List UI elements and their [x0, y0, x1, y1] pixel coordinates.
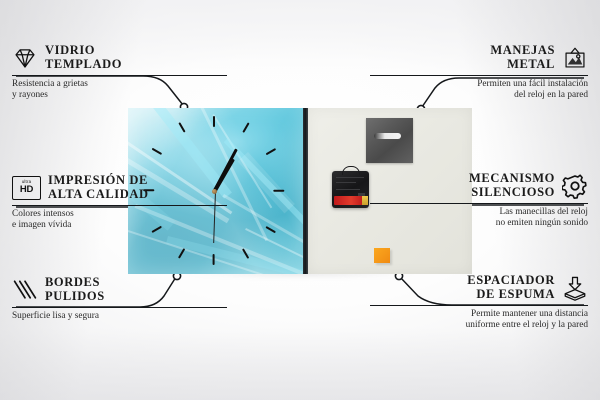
- feature-desc-line2: y rayones: [12, 90, 227, 101]
- feature-impresion-alta-calidad: ultra HD IMPRESIÓN DE ALTA CALIDAD Color…: [12, 174, 227, 231]
- infographic-canvas: VIDRIO TEMPLADO Resistencia a grietas y …: [0, 0, 600, 400]
- feature-desc-line2: no emiten ningún sonido: [370, 218, 588, 229]
- metal-hanger-plate: [366, 118, 413, 163]
- ultra-hd-badge-icon: ultra HD: [12, 176, 41, 200]
- feature-desc-line2: uniforme entre el reloj y la pared: [370, 320, 588, 331]
- clock-tick: [178, 248, 185, 258]
- feature-title-line1: IMPRESIÓN DE: [48, 174, 149, 188]
- feature-desc-line1: Permiten una fácil instalación: [370, 79, 588, 90]
- hanging-picture-frame-icon: [562, 45, 588, 71]
- feature-rule: [370, 75, 588, 76]
- orange-foam-spacer: [374, 248, 390, 263]
- clock-tick: [152, 148, 162, 155]
- feature-title-line1: VIDRIO: [45, 44, 122, 58]
- feature-desc-line1: Permite mantener una distancia: [370, 309, 588, 320]
- feature-title-line1: MANEJAS: [490, 44, 555, 58]
- movement-hook: [342, 166, 360, 175]
- feature-title-line1: BORDES: [45, 276, 105, 290]
- feature-desc-line1: Las manecillas del reloj: [370, 207, 588, 218]
- down-arrow-onto-pad-icon: [562, 275, 588, 301]
- feature-rule: [12, 75, 227, 76]
- clock-tick: [273, 190, 284, 192]
- feature-rule: [370, 305, 588, 306]
- clock-tick: [213, 254, 215, 265]
- feature-espaciador-espuma: ESPACIADOR DE ESPUMA Permite mantener un…: [370, 274, 588, 331]
- feature-desc-line2: e imagen vívida: [12, 220, 227, 231]
- feature-rule: [12, 205, 227, 206]
- feature-desc-line2: del reloj en la pared: [370, 90, 588, 101]
- diamond-icon: [12, 45, 38, 71]
- quartz-movement-box: [332, 171, 369, 208]
- feature-bordes-pulidos: BORDES PULIDOS Superficie lisa y segura: [12, 276, 227, 322]
- feature-title-line1: MECANISMO: [469, 172, 555, 186]
- clock-tick: [242, 122, 249, 132]
- gear-icon: [562, 173, 588, 199]
- aa-battery: [334, 196, 365, 205]
- feature-title-line2: DE ESPUMA: [467, 288, 555, 302]
- feature-desc-line1: Colores intensos: [12, 209, 227, 220]
- feature-title-line2: ALTA CALIDAD: [48, 188, 149, 202]
- feature-desc-line1: Superficie lisa y segura: [12, 311, 227, 322]
- feature-rule: [370, 203, 588, 204]
- feature-title-line2: SILENCIOSO: [469, 186, 555, 200]
- feature-title-line2: METAL: [490, 58, 555, 72]
- feature-mecanismo-silencioso: MECANISMO SILENCIOSO Las manecillas del …: [370, 172, 588, 229]
- battery-terminal: [362, 196, 368, 205]
- feature-desc-line1: Resistencia a grietas: [12, 79, 227, 90]
- clock-tick: [266, 148, 276, 155]
- diagonal-stripes-icon: [12, 277, 38, 303]
- feature-title-line1: ESPACIADOR: [467, 274, 555, 288]
- feature-manejas-metal: MANEJAS METAL Permiten una fácil instala…: [370, 44, 588, 101]
- feature-vidrio-templado: VIDRIO TEMPLADO Resistencia a grietas y …: [12, 44, 227, 101]
- feature-title-line2: TEMPLADO: [45, 58, 122, 72]
- hanger-slot: [374, 133, 401, 139]
- feature-title-line2: PULIDOS: [45, 290, 105, 304]
- feature-rule: [12, 307, 227, 308]
- clock-tick: [213, 116, 215, 127]
- ultra-hd-main-text: HD: [20, 185, 33, 195]
